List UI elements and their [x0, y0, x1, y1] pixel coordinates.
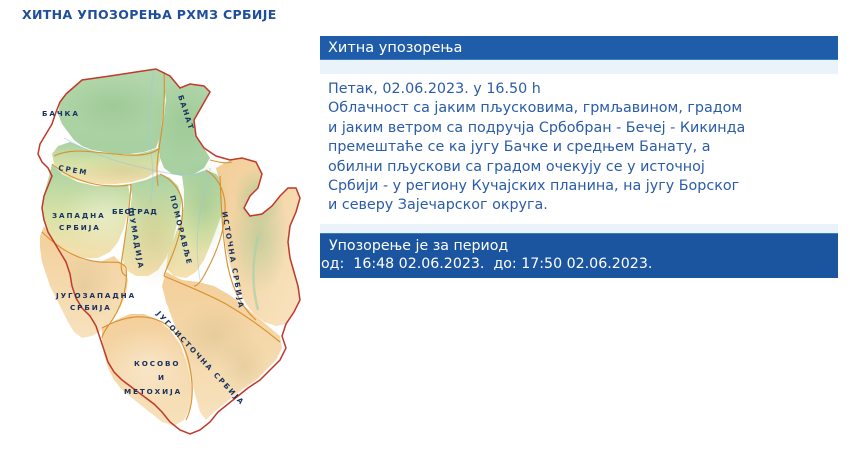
alert-panel-body: Петак, 02.06.2023. у 16.50 h Облачност с… [320, 74, 838, 224]
alert-panel-subbar [320, 60, 838, 74]
alert-panel-header: Хитна упозорења [320, 36, 838, 60]
alert-period-label: Упозорење је за период [320, 237, 838, 255]
serbia-map: БАЧКА БАНАТ СРЕМ БЕОГРАД ЗАПАДНА СРБИЈА … [4, 36, 316, 456]
map-label-kosovo: КОСОВО [134, 359, 180, 368]
map-label-kosovo-i: И [158, 373, 166, 382]
alert-body-text: Облачност са јаким пљусковима, грмљавино… [328, 99, 838, 215]
map-relief [50, 70, 289, 406]
map-label-jugozapadna-srbija: ЈУГОЗАПАДНА [55, 291, 136, 300]
map-label-backa: БАЧКА [42, 109, 80, 118]
map-label-metohija: МЕТОХИЈА [124, 387, 182, 396]
alert-period-range: од: 16:48 02.06.2023. до: 17:50 02.06.20… [320, 255, 838, 274]
map-label-zapadna-srbija: ЗАПАДНА [52, 211, 106, 220]
alert-panel-gap [320, 224, 838, 233]
serbia-map-svg: БАЧКА БАНАТ СРЕМ БЕОГРАД ЗАПАДНА СРБИЈА … [4, 36, 316, 456]
alert-panel: Хитна упозорења Петак, 02.06.2023. у 16.… [320, 36, 838, 278]
alert-issued-time: Петак, 02.06.2023. у 16.50 h [328, 80, 838, 99]
alert-period-footer: Упозорење је за период од: 16:48 02.06.2… [320, 233, 838, 278]
map-label-zapadna-srbija-2: СРБИЈА [59, 223, 101, 232]
page-title: ХИТНА УПОЗОРЕЊА РХМЗ СРБИЈЕ [22, 7, 277, 22]
map-label-jugozapadna-srbija-2: СРБИЈА [70, 303, 112, 312]
